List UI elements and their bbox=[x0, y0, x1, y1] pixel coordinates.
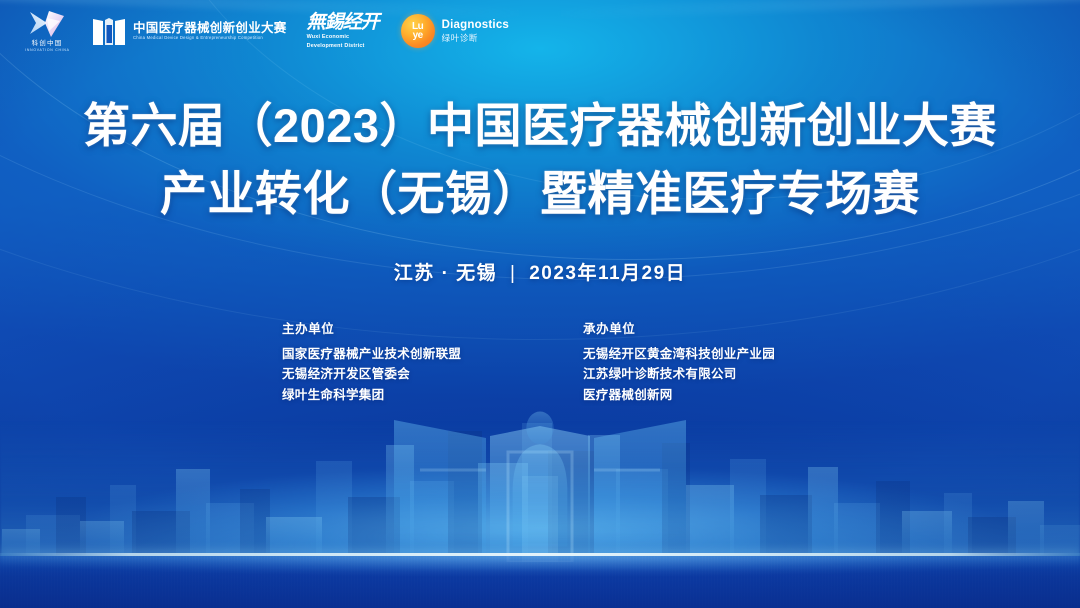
logo-wuxi-calligraphy: 無錫经开 bbox=[307, 13, 379, 32]
host-organizer-item: 无锡经济开发区管委会 bbox=[282, 364, 497, 384]
organizer-sections: 主办单位 国家医疗器械产业技术创新联盟 无锡经济开发区管委会 绿叶生命科学集团 … bbox=[0, 318, 1080, 405]
logo-wuxi-en-line2: Development District bbox=[307, 43, 365, 50]
logo-wuxi-en-line1: Wuxi Economic bbox=[307, 34, 350, 41]
logo-cmdc-competition-en: China Medical Device Design & Entreprene… bbox=[133, 36, 287, 40]
logo-luye-en: Diagnostics bbox=[442, 20, 509, 32]
coorganizer-column: 承办单位 无锡经开区黄金湾科技创业产业园 江苏绿叶诊断技术有限公司 医疗器械创新… bbox=[583, 318, 798, 405]
page-title: 第六届（2023）中国医疗器械创新创业大赛 产业转化（无锡）暨精准医疗专场赛 bbox=[0, 96, 1080, 224]
event-poster: 科创中国 INNOVATION CHINA 中国医疗器械创新创业大赛 China… bbox=[0, 0, 1080, 608]
luye-circle-icon: Lu ye bbox=[401, 14, 435, 48]
host-organizer-heading: 主办单位 bbox=[282, 318, 497, 337]
logo-wuxi-economic-development-district[interactable]: 無錫经开 Wuxi Economic Development District bbox=[307, 13, 379, 50]
sponsor-logo-bar: 科创中国 INNOVATION CHINA 中国医疗器械创新创业大赛 China… bbox=[0, 0, 1080, 62]
host-organizer-item: 绿叶生命科学集团 bbox=[282, 385, 497, 405]
title-line-1: 第六届（2023）中国医疗器械创新创业大赛 bbox=[0, 96, 1080, 156]
logo-luye-diagnostics[interactable]: Lu ye Diagnostics 绿叶诊断 bbox=[401, 14, 509, 48]
coorganizer-heading: 承办单位 bbox=[583, 318, 798, 337]
open-book-icon bbox=[92, 15, 126, 47]
logo-cmdc-competition-cn: 中国医疗器械创新创业大赛 bbox=[133, 22, 287, 35]
coorganizer-item: 医疗器械创新网 bbox=[583, 385, 798, 405]
event-date: 2023年11月29日 bbox=[529, 263, 686, 284]
logo-cmdc-competition[interactable]: 中国医疗器械创新创业大赛 China Medical Device Design… bbox=[92, 15, 287, 47]
event-datebar: 江苏 · 无锡 | 2023年11月29日 bbox=[0, 258, 1080, 285]
logo-innovation-china-cn: 科创中国 bbox=[32, 41, 63, 48]
poster-content: 第六届（2023）中国医疗器械创新创业大赛 产业转化（无锡）暨精准医疗专场赛 江… bbox=[0, 0, 1080, 608]
host-organizer-column: 主办单位 国家医疗器械产业技术创新联盟 无锡经济开发区管委会 绿叶生命科学集团 bbox=[282, 318, 497, 405]
event-location: 江苏 · 无锡 bbox=[394, 263, 497, 284]
luye-badge-line2: ye bbox=[413, 31, 423, 41]
host-organizer-item: 国家医疗器械产业技术创新联盟 bbox=[282, 344, 497, 364]
bird-mark-icon bbox=[27, 9, 67, 39]
coorganizer-item: 无锡经开区黄金湾科技创业产业园 bbox=[583, 344, 798, 364]
logo-innovation-china-en: INNOVATION CHINA bbox=[25, 50, 69, 53]
logo-luye-cn: 绿叶诊断 bbox=[442, 34, 509, 43]
title-line-2: 产业转化（无锡）暨精准医疗专场赛 bbox=[0, 164, 1080, 224]
logo-innovation-china[interactable]: 科创中国 INNOVATION CHINA bbox=[16, 9, 78, 53]
datebar-separator: | bbox=[504, 263, 522, 285]
coorganizer-item: 江苏绿叶诊断技术有限公司 bbox=[583, 364, 798, 384]
